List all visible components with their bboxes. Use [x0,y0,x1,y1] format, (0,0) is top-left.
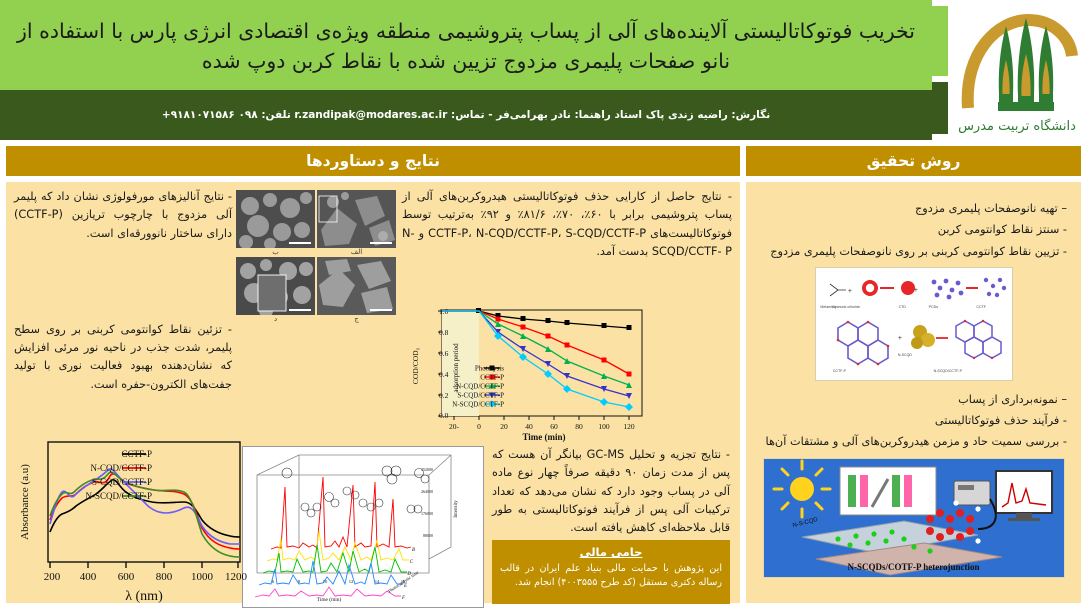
cod-legend-item-2: N-CQD/CCTF-P [456,383,504,391]
sem-scalebar-alef [370,242,392,244]
uv-legend-item-1: N-CQD/CCTF-P [90,463,152,473]
synth-label-pcds: PCDs [928,305,938,309]
gcms-chromatogram-chart: 352000 264000 176000 88000 Intensity B [242,446,484,608]
abstract-figure-caption: N-SCQDs/COTF-P heterojunction [764,562,1064,572]
sem-image-dal [236,257,315,315]
logo-caption: دانشگاه تربیت مدرس [958,118,1076,134]
gc-ytick-264000: 264000 [421,489,433,494]
cod-xtick-0: 0 [477,422,481,431]
gc-y-axis-label: Intensity [454,500,459,518]
cod-xtick-40: 40 [525,422,533,431]
sem-image-be [236,190,315,248]
title-line-1: تخریب فوتوکاتالیستی آلاینده‌های آلی از پ… [17,17,915,46]
gc-ytick-176000: 176000 [421,511,433,516]
uv-xtick-1200: 1200 [225,571,248,583]
phone-label: تلفن: [261,109,290,121]
method-bullet-3: - تزیین نقاط کوانتومی کربنی بر روی نانوص… [760,243,1067,261]
funding-heading: حامی مالی [500,545,722,559]
funding-box: حامی مالی این پژوهش با حمایت مالی بنیاد … [492,540,730,604]
gc-ytick-88000: 88000 [423,533,433,538]
gc-trace-label-E: E [403,584,407,589]
uv-y-axis-label: Absorbance (a.u) [19,464,31,540]
svg-text:+: + [847,288,851,295]
gc-xtick-10: 10 [323,579,328,584]
sem-labels-bottom: ج د [236,315,396,324]
sem-scalebar-dal [289,309,311,311]
uv-vis-chart: Absorbance (a.u) [14,436,250,606]
sem-row-bottom [236,257,396,315]
results-gcms-paragraph: - نتایج تجزیه و تحلیل GC-MS بیانگر آن هس… [492,446,730,537]
page-title: تخریب فوتوکاتالیستی آلاینده‌های آلی از پ… [17,17,915,75]
method-column: روش تحقیق – تهیه نانوصفحات پلیمری مزدوج … [746,146,1081,601]
method-body: – تهیه نانوصفحات پلیمری مزدوج - سنتز نقا… [746,182,1081,603]
poster-root: تخریب فوتوکاتالیستی آلاینده‌های آلی از پ… [0,0,1087,606]
funding-text: این پژوهش با حمایت مالی بنیاد علم ایران … [500,562,722,591]
gc-xtick-14: 14 [375,579,380,584]
uv-xtick-1000: 1000 [191,571,214,583]
cod-legend-item-0: Photolysis [475,365,504,373]
uv-xtick-600: 600 [118,571,135,583]
results-heading: نتایج و دستاوردها [6,146,740,176]
synth-label-cctfp: CCTF-P [832,369,846,373]
sem-row-top [236,190,396,248]
synth-label-cyanuric: Cyanuric chloride [832,305,860,309]
logo-accent-dark [932,82,948,134]
svg-text:CCTF-P: CCTF-P [480,374,504,382]
method-bullet-2: - سنتز نقاط کوانتومی کربن [760,221,1067,239]
results-right-text: - نتایج آنالیزهای مورفولوژی نشان داد که … [14,188,232,394]
svg-text:S-CQD/CCTF-P: S-CQD/CCTF-P [457,392,504,400]
authors-line: نگارش: راضیه زندی پاک استاد راهنما: نادر… [162,109,770,121]
results-body: - نتایج حاصل از کارایی حذف فوتوکاتالیستی… [6,182,740,603]
cod-xtick-20: 20 [500,422,508,431]
contact-phone: ۰۹۸ ۹۱۸۱۰۷۱۵۸۶+ [162,109,258,121]
method-heading: روش تحقیق [746,146,1081,176]
svg-text:+: + [897,335,901,342]
cod-legend-item-3: S-CQD/CCTF-P [457,392,504,400]
sem-image-jim [317,257,396,315]
cod-xtick-120: 120 [623,422,635,431]
gc-xtick-12: 12 [349,579,354,584]
synth-label-nscqd: N-SCQD [897,353,912,357]
sun-icon [774,461,830,517]
uv-legend: CCTF-P N-CQD/CCTF-P S-CQD/CCTF-P [85,449,152,501]
sem-figure-group: الف ب [236,190,396,324]
title-line-2: نانو صفحات پلیمری مزدوج تزیین شده با نقا… [17,47,915,76]
svg-text:S-CQD/CCTF-P: S-CQD/CCTF-P [92,477,152,487]
svg-text:N-CQD/CCTF-P: N-CQD/CCTF-P [90,463,152,473]
authors-prefix: نگارش: راضیه زندی پاک استاد راهنما: نادر… [451,109,770,121]
cod-x-axis-label: Time (min) [522,432,565,442]
results-column: نتایج و دستاوردها - نتایج حاصل از کارایی… [6,146,740,601]
uv-xtick-400: 400 [80,571,97,583]
synthesis-scheme-figure: + + [815,267,1013,381]
gc-trace-label-B: B [412,548,415,553]
method-bullet-6: - بررسی سمیت حاد و مزمن هیدروکربن‌های آل… [760,433,1067,451]
gc-xtick-16: 16 [401,579,406,584]
cod-degradation-chart: adsorption period 1.0 0.8 0.6 0.4 0.2 0.… [404,306,654,446]
cod-xtick--20: -20 [449,422,460,431]
contact-email[interactable]: r.zandipak@modares.ac.ir [294,109,447,121]
tarbiat-modares-logo-icon: دانشگاه تربیت مدرس [954,4,1080,136]
cod-xtick-60: 60 [550,422,558,431]
sem-label-be: ب [236,248,315,257]
results-efficiency-paragraph: - نتایج حاصل از کارایی حذف فوتوکاتالیستی… [402,188,732,261]
svg-text:N-CQD/CCTF-P: N-CQD/CCTF-P [456,383,504,391]
method-bullets-top: – تهیه نانوصفحات پلیمری مزدوج - سنتز نقا… [760,200,1067,261]
sem-image-alef [317,190,396,248]
svg-text:Photolysis: Photolysis [475,365,504,373]
synth-label-ctd: CTD [898,305,906,309]
graphical-abstract-icon: N-S-CQD [764,459,1064,577]
poster-header: تخریب فوتوکاتالیستی آلاینده‌های آلی از پ… [0,0,1087,140]
sem-scalebar-be [289,242,311,244]
synth-label-nscqd-cctfp: N-SCQD/CCTF-P [933,369,962,373]
uv-legend-item-3: N-SCQD/CCTF-P [85,491,152,501]
cod-xtick-80: 80 [575,422,583,431]
method-bullet-1: – تهیه نانوصفحات پلیمری مزدوج [760,200,1067,218]
university-logo-zone: دانشگاه تربیت مدرس [932,0,1087,140]
gc-x-axis-label: Time (min) [317,596,342,603]
uv-legend-item-2: S-CQD/CCTF-P [92,477,152,487]
uv-legend-item-0: CCTF-P [121,449,152,459]
sem-label-alef: الف [317,248,396,257]
sem-label-jim: ج [317,315,396,324]
gc-ytick-352000: 352000 [421,467,433,472]
cod-y-axis-label: COD/COD₀ [411,347,420,384]
sem-scalebar-jim [370,309,392,311]
svg-text:+: + [913,287,917,294]
logo-accent-green [932,6,948,76]
title-band: تخریب فوتوکاتالیستی آلاینده‌های آلی از پ… [0,0,932,90]
graphical-abstract-figure: N-S-CQD N-SCQDs/COTF-P heterojunction [763,458,1065,578]
uv-x-axis-label: λ (nm) [125,589,163,604]
uv-xtick-800: 800 [156,571,173,583]
sem-labels-top: الف ب [236,248,396,257]
cod-xtick-100: 100 [598,422,610,431]
method-bullet-4: – نمونه‌برداری از پساب [760,391,1067,409]
sem-label-dal: د [236,315,315,324]
svg-text:N-SCQD/CCTF-P: N-SCQD/CCTF-P [452,401,504,409]
svg-text:N-SCQD/CCTF-P: N-SCQD/CCTF-P [85,491,152,501]
svg-text:CCTF-P: CCTF-P [121,449,152,459]
authors-band: نگارش: راضیه زندی پاک استاد راهنما: نادر… [0,90,932,140]
synthesis-scheme-icon: + + [816,268,1012,380]
results-morphology-paragraph: - نتایج آنالیزهای مورفولوژی نشان داد که … [14,188,232,243]
cod-legend-item-1: CCTF-P [480,374,504,382]
uv-xtick-200: 200 [44,571,61,583]
cod-legend-item-4: N-SCQD/CCTF-P [452,401,504,409]
method-bullet-5: - فرآیند حذف فوتوکاتالیستی [760,412,1067,430]
method-bullets-bottom: – نمونه‌برداری از پساب - فرآیند حذف فوتو… [760,391,1067,452]
synth-label-cctf: CCTF [976,305,986,309]
results-cqd-paragraph: - تزئین نقاط کوانتومی کربنی بر روی سطح پ… [14,321,232,394]
